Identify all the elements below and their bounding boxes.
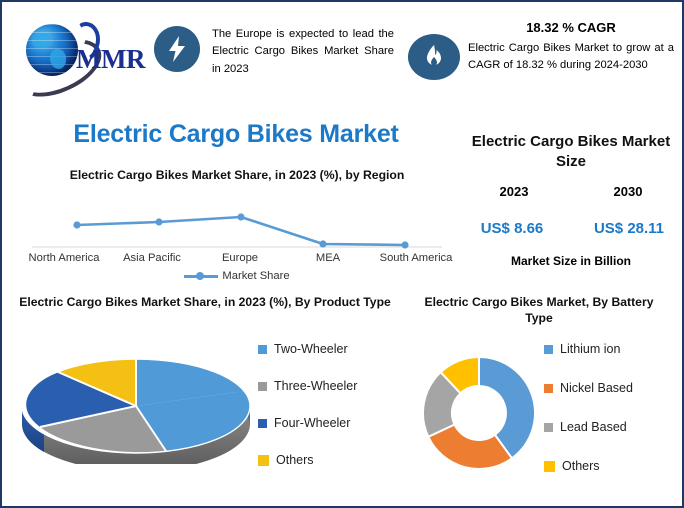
legend-swatch-others-battery xyxy=(544,461,555,472)
region-legend: Market Share xyxy=(12,270,462,282)
callout-text-europe: The Europe is expected to lead the Elect… xyxy=(212,26,394,78)
battery-type-donut-chart: Electric Cargo Bikes Market, By Battery … xyxy=(414,294,680,504)
market-size-year-start: 2023 xyxy=(466,184,562,199)
region-label-4: South America xyxy=(372,252,460,264)
page-title: Electric Cargo Bikes Market xyxy=(10,120,462,149)
market-size-panel: Electric Cargo Bikes Market Size 2023 20… xyxy=(464,132,678,282)
brand-name: MMR xyxy=(76,44,145,75)
market-size-footnote: Market Size in Billion xyxy=(464,254,678,268)
region-plot-area xyxy=(32,207,442,252)
region-line-svg xyxy=(32,207,442,252)
legend-label-three-wheeler: Three-Wheeler xyxy=(274,379,357,393)
product-type-pie-graphic xyxy=(16,344,256,464)
product-type-legend: Two-Wheeler Three-Wheeler Four-Wheeler O… xyxy=(258,342,403,467)
legend-swatch-two-wheeler xyxy=(258,345,267,354)
legend-item-others-product: Others xyxy=(258,453,403,467)
legend-label-two-wheeler: Two-Wheeler xyxy=(274,342,348,356)
market-size-year-end: 2030 xyxy=(580,184,676,199)
infographic-page: MMR The Europe is expected to lead the E… xyxy=(0,0,684,508)
battery-type-donut-graphic xyxy=(414,346,544,481)
legend-item-three-wheeler: Three-Wheeler xyxy=(258,379,403,393)
legend-label-nickel-based: Nickel Based xyxy=(560,381,633,395)
legend-item-lead-based: Lead Based xyxy=(544,420,680,434)
legend-swatch-four-wheeler xyxy=(258,419,267,428)
legend-swatch-three-wheeler xyxy=(258,382,267,391)
legend-label-four-wheeler: Four-Wheeler xyxy=(274,416,350,430)
legend-label-lithium-ion: Lithium ion xyxy=(560,342,620,356)
market-size-title: Electric Cargo Bikes Market Size xyxy=(464,132,678,171)
legend-label-others-product: Others xyxy=(276,453,314,467)
cagr-heading: 18.32 % CAGR xyxy=(468,20,674,35)
region-label-0: North America xyxy=(20,252,108,264)
legend-label-others-battery: Others xyxy=(562,459,600,473)
region-label-2: Europe xyxy=(196,252,284,264)
region-label-1: Asia Pacific xyxy=(108,252,196,264)
region-line-chart: Electric Cargo Bikes Market Share, in 20… xyxy=(12,167,462,287)
legend-item-two-wheeler: Two-Wheeler xyxy=(258,342,403,356)
battery-type-chart-title: Electric Cargo Bikes Market, By Battery … xyxy=(414,294,664,327)
region-legend-label: Market Share xyxy=(222,270,289,282)
region-legend-marker xyxy=(184,275,218,278)
legend-label-lead-based: Lead Based xyxy=(560,420,627,434)
legend-swatch-others-product xyxy=(258,455,269,466)
battery-type-legend: Lithium ion Nickel Based Lead Based Othe… xyxy=(544,342,680,473)
lightning-bolt-icon xyxy=(154,26,200,72)
market-size-value-start: US$ 8.66 xyxy=(464,220,560,237)
legend-swatch-nickel-based xyxy=(544,384,553,393)
legend-item-lithium-ion: Lithium ion xyxy=(544,342,680,356)
region-axis-labels: North America Asia Pacific Europe MEA So… xyxy=(20,252,460,264)
legend-item-nickel-based: Nickel Based xyxy=(544,381,680,395)
product-type-chart-title: Electric Cargo Bikes Market Share, in 20… xyxy=(10,294,400,310)
brand-logo: MMR xyxy=(14,14,146,88)
legend-item-four-wheeler: Four-Wheeler xyxy=(258,416,403,430)
legend-swatch-lithium-ion xyxy=(544,345,553,354)
region-label-3: MEA xyxy=(284,252,372,264)
market-size-value-end: US$ 28.11 xyxy=(580,220,678,237)
legend-item-others-battery: Others xyxy=(544,459,680,473)
flame-icon xyxy=(408,34,460,80)
product-type-pie-chart: Electric Cargo Bikes Market Share, in 20… xyxy=(10,294,410,504)
legend-swatch-lead-based xyxy=(544,423,553,432)
callout-text-cagr: Electric Cargo Bikes Market to grow at a… xyxy=(468,40,674,75)
region-chart-title: Electric Cargo Bikes Market Share, in 20… xyxy=(12,167,462,183)
